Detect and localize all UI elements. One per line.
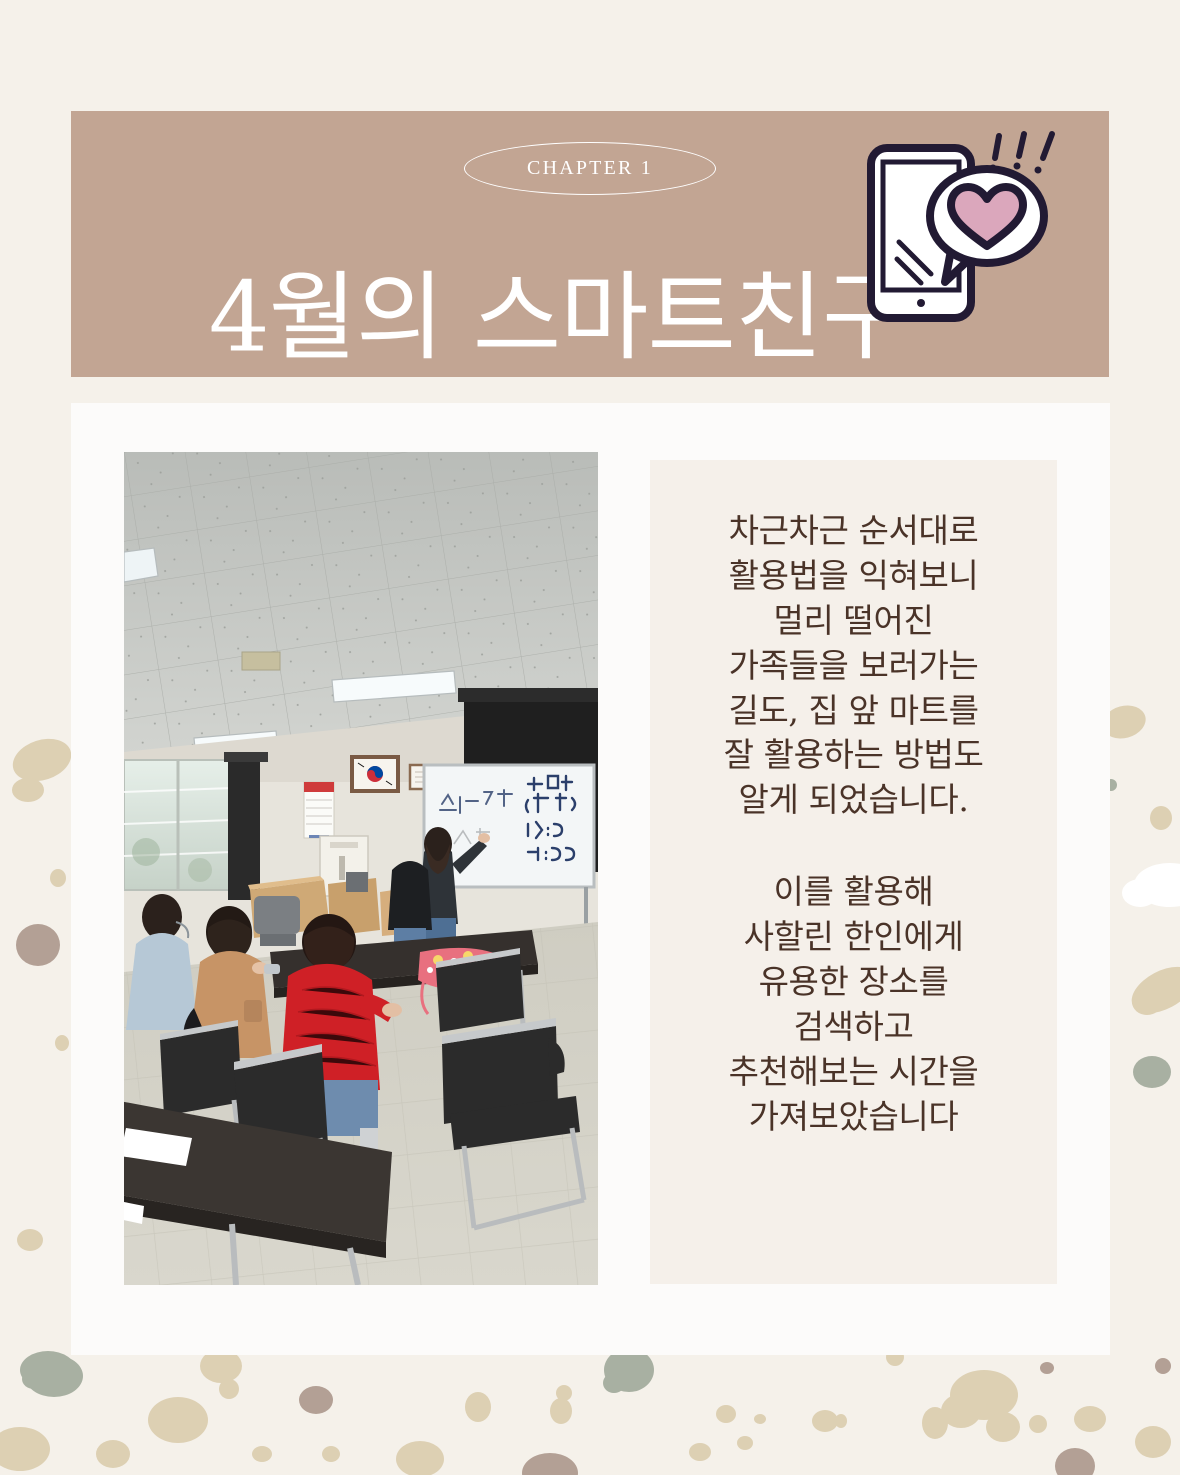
blob bbox=[1134, 863, 1180, 907]
blob bbox=[986, 1412, 1020, 1442]
blob bbox=[1133, 1056, 1171, 1088]
content-card: 차근차근 순서대로 활용법을 익혀보니 멀리 떨어진 가족들을 보러가는 길도,… bbox=[71, 403, 1110, 1355]
blob bbox=[754, 1414, 766, 1424]
chapter-badge: CHAPTER 1 bbox=[464, 142, 716, 195]
blob bbox=[812, 1410, 838, 1432]
chapter-header-band: CHAPTER 1 4월의 스마트친구 bbox=[71, 111, 1109, 377]
blob bbox=[322, 1446, 340, 1462]
blob bbox=[219, 1379, 239, 1399]
chapter-label: CHAPTER 1 bbox=[527, 157, 653, 180]
blob bbox=[1040, 1362, 1054, 1374]
blob bbox=[950, 1370, 1018, 1420]
blob bbox=[22, 1369, 46, 1389]
blob bbox=[16, 924, 60, 966]
blob bbox=[922, 1407, 948, 1439]
blob bbox=[603, 1373, 625, 1393]
classroom-photo-illustration bbox=[124, 452, 598, 1285]
blob bbox=[20, 1351, 76, 1389]
exclamation-marks-icon bbox=[995, 134, 1052, 158]
blob bbox=[556, 1385, 572, 1401]
blob bbox=[1122, 879, 1158, 907]
blob bbox=[1124, 957, 1180, 1022]
blob bbox=[50, 869, 66, 887]
smartphone-heart-icon bbox=[863, 130, 1063, 335]
blob bbox=[0, 1427, 50, 1471]
blob bbox=[689, 1443, 711, 1461]
blob bbox=[941, 1394, 981, 1428]
blob bbox=[522, 1453, 578, 1475]
blob bbox=[25, 1355, 83, 1397]
blob bbox=[1029, 1415, 1047, 1433]
office-chair bbox=[254, 896, 300, 946]
blob bbox=[396, 1441, 444, 1475]
blob bbox=[7, 732, 76, 789]
blob bbox=[1155, 1358, 1171, 1374]
blob bbox=[1150, 806, 1172, 830]
blob bbox=[148, 1397, 208, 1443]
paragraph-2: 이를 활용해 사할린 한인에게 유용한 장소를 검색하고 추천해보는 시간을 가… bbox=[729, 870, 979, 1139]
blob bbox=[1074, 1406, 1106, 1432]
blob bbox=[252, 1446, 272, 1462]
blob bbox=[12, 778, 44, 802]
description-panel: 차근차근 순서대로 활용법을 익혀보니 멀리 떨어진 가족들을 보러가는 길도,… bbox=[650, 460, 1057, 1284]
blob bbox=[550, 1398, 572, 1424]
chair bbox=[436, 948, 524, 1032]
paragraph-1: 차근차근 순서대로 활용법을 익혀보니 멀리 떨어진 가족들을 보러가는 길도,… bbox=[724, 509, 984, 823]
curtain-icon bbox=[228, 752, 260, 900]
blob bbox=[1135, 1426, 1171, 1458]
phone-home-button-icon bbox=[917, 299, 925, 307]
blob bbox=[1055, 1448, 1095, 1475]
blob bbox=[96, 1440, 130, 1468]
blob bbox=[299, 1386, 333, 1414]
blob bbox=[55, 1035, 69, 1051]
blob bbox=[1132, 989, 1162, 1015]
classroom-photo bbox=[124, 452, 598, 1285]
blob bbox=[465, 1392, 491, 1422]
blob bbox=[737, 1436, 753, 1450]
blob bbox=[716, 1405, 736, 1423]
blob bbox=[17, 1229, 43, 1251]
blob bbox=[835, 1414, 847, 1428]
